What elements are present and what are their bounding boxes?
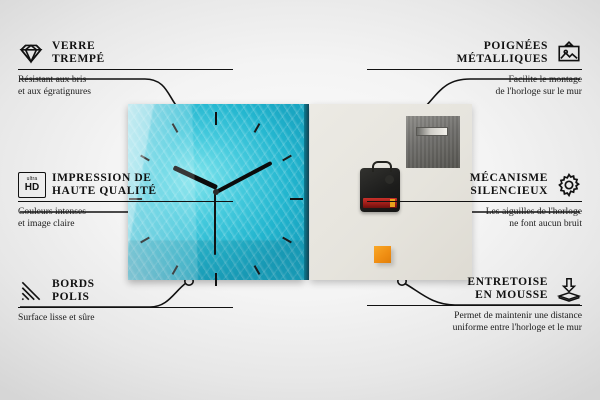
callout-subtitle-line2: uniforme entre l'horloge et le mur (367, 322, 582, 333)
callout-subtitle-line2: de l'horloge sur le mur (367, 86, 582, 97)
ultra-hd-big-text: HD (25, 183, 39, 193)
infographic-canvas: VERRE TREMPÉ Résistant aux bris et aux é… (0, 0, 600, 400)
callout-title-line1: POIGNÉES (457, 40, 548, 53)
callout-title-line2: MÉTALLIQUES (457, 53, 548, 66)
callout-title-line2: HAUTE QUALITÉ (52, 185, 157, 198)
callout-mecanisme-silencieux: MÉCANISME SILENCIEUX Les aiguilles de l'… (367, 172, 582, 229)
callout-rule (367, 69, 582, 70)
callout-subtitle-line1: Résistant aux bris (18, 74, 233, 85)
callout-bords-polis: BORDS POLIS Surface lisse et sûre (18, 278, 233, 324)
polished-edge-icon (18, 278, 44, 304)
hanging-loop (372, 161, 392, 172)
callout-entretoise-en-mousse: ENTRETOISE EN MOUSSE Permet de maintenir… (367, 276, 582, 333)
callout-subtitle-line1: Les aiguilles de l'horloge (367, 206, 582, 217)
ultra-hd-icon: ultra HD (18, 172, 44, 198)
callout-subtitle-line2: et aux égratignures (18, 86, 233, 97)
callout-rule (18, 201, 233, 202)
callout-rule (18, 69, 233, 70)
callout-title-line2: SILENCIEUX (470, 185, 548, 198)
callout-subtitle-line1: Surface lisse et sûre (18, 312, 233, 323)
callout-title-line1: IMPRESSION DE (52, 172, 157, 185)
callout-rule (18, 307, 233, 308)
callout-title-line1: ENTRETOISE (467, 276, 548, 289)
callout-title-line2: EN MOUSSE (467, 289, 548, 302)
gear-icon (556, 172, 582, 198)
callout-poignees-metalliques: POIGNÉES MÉTALLIQUES Facilite le montage… (367, 40, 582, 97)
picture-frame-hook-icon (556, 40, 582, 66)
callout-verre-trempe: VERRE TREMPÉ Résistant aux bris et aux é… (18, 40, 233, 97)
callout-subtitle-line1: Facilite le montage (367, 74, 582, 85)
callout-subtitle-line1: Couleurs intenses (18, 206, 233, 217)
foam-spacer-arrow-icon (556, 276, 582, 302)
callout-subtitle-line2: et image claire (18, 218, 233, 229)
callout-rule (367, 305, 582, 306)
callout-title-line1: VERRE (52, 40, 105, 53)
metal-hanger-plate (406, 116, 460, 168)
callout-title-line1: MÉCANISME (470, 172, 548, 185)
hanger-slot (416, 127, 448, 136)
clock-side-edge (304, 104, 309, 280)
callout-impression-haute-qualite: ultra HD IMPRESSION DE HAUTE QUALITÉ Cou… (18, 172, 233, 229)
callout-title-line2: TREMPÉ (52, 53, 105, 66)
diamond-icon (18, 40, 44, 66)
foam-spacer (374, 246, 391, 263)
callout-subtitle-line2: ne font aucun bruit (367, 218, 582, 229)
callout-title-line2: POLIS (52, 291, 95, 304)
callout-title-line1: BORDS (52, 278, 95, 291)
callout-subtitle-line1: Permet de maintenir une distance (367, 310, 582, 321)
callout-rule (367, 201, 582, 202)
